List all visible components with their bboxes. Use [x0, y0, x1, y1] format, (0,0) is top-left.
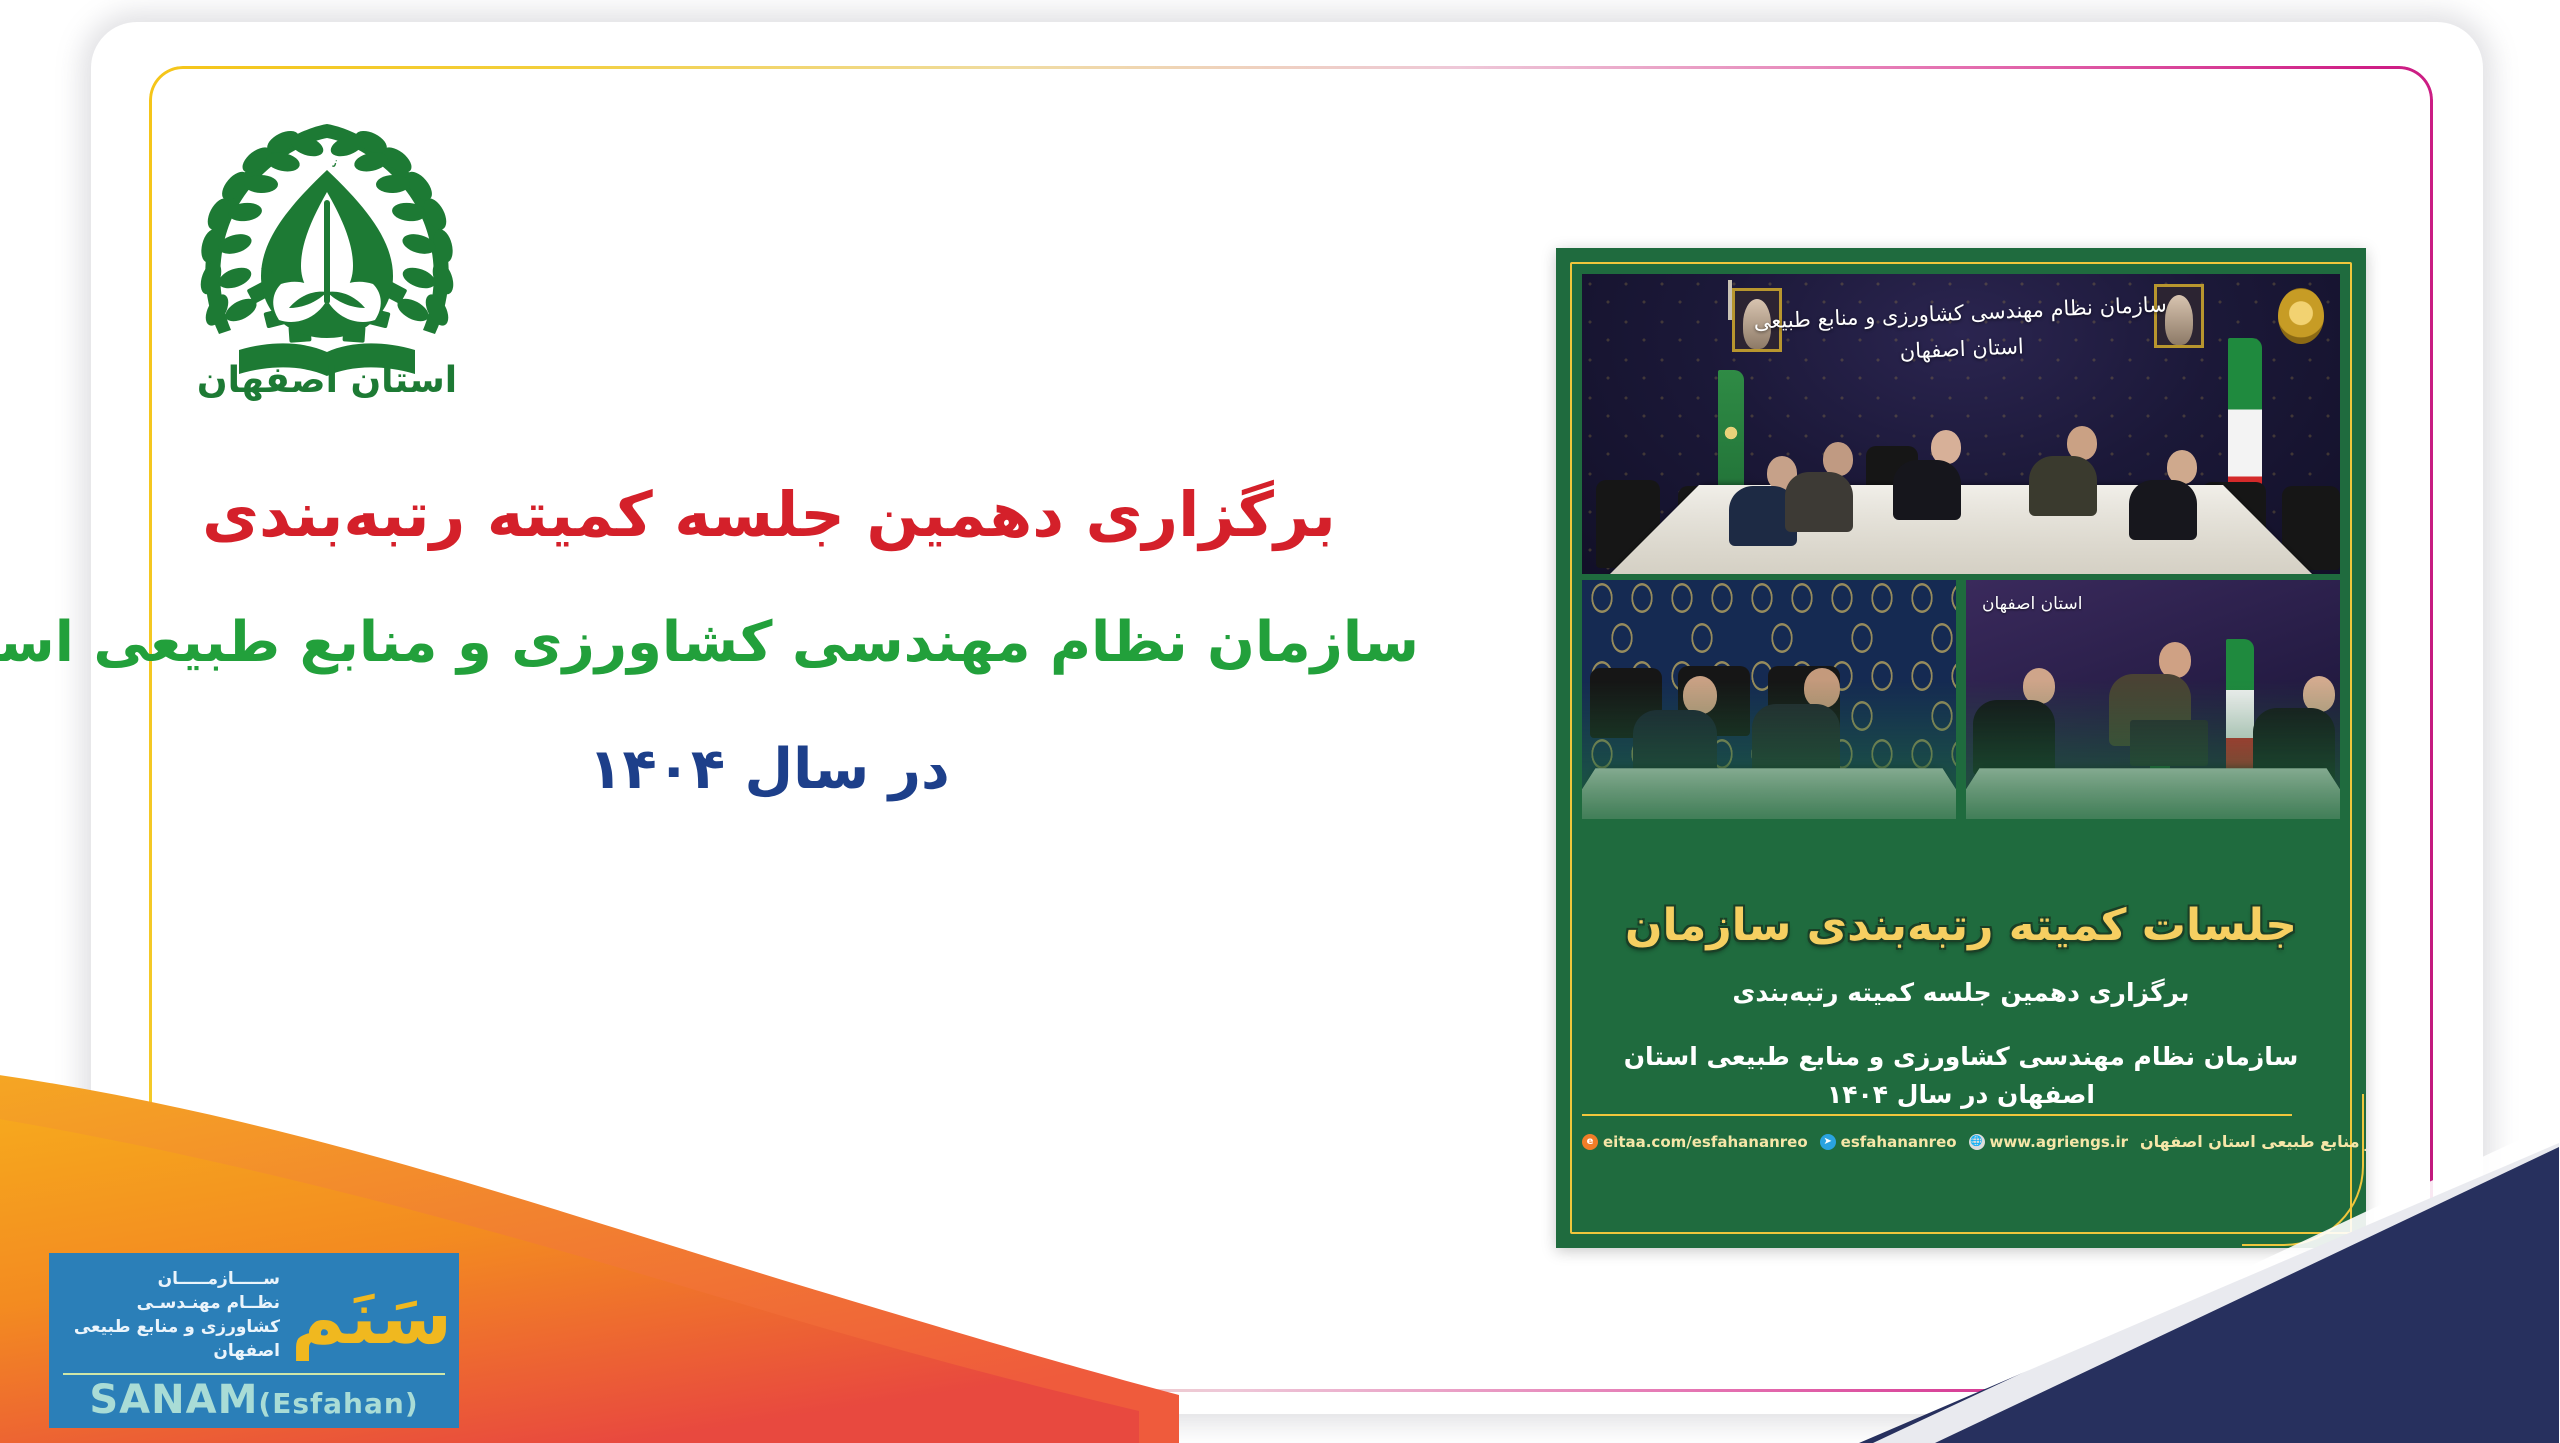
slide-canvas: کشاورزی و منابع طبیعی نظام مهندسی استان …: [0, 0, 2560, 1443]
committee-members-laptop-photo: استان اصفهان: [1967, 580, 2341, 819]
sanam-line-2: نظــام مهنـدسـی: [62, 1291, 281, 1315]
eitaa-link[interactable]: e eitaa.com/esfahananreo: [1583, 1133, 1809, 1151]
website-link[interactable]: 🌐 www.agriengs.ir: [1970, 1133, 2129, 1151]
attendee: [2149, 450, 2198, 540]
headline-line-2: سازمان نظام مهندسی کشاورزی و منابع طبیعی…: [120, 602, 1420, 683]
sanam-divider: [64, 1373, 446, 1375]
eitaa-icon: e: [1583, 1134, 1599, 1150]
sanam-persian-mark: سَنَم: [285, 1275, 460, 1355]
poster-footer: e eitaa.com/esfahananreo ➤ esfahananreo …: [1583, 1132, 2341, 1151]
website-label: www.agriengs.ir: [1991, 1133, 2129, 1151]
poster-divider: [1583, 1114, 2293, 1116]
poster-subtitle-2: سازمان نظام مهندسی کشاورزی و منابع طبیعی…: [1591, 1038, 2333, 1113]
eitaa-label: eitaa.com/esfahananreo: [1604, 1133, 1809, 1151]
sanam-persian-lines: ســـــازمـــــان نظــام مهنـدسـی کشاورزی…: [50, 1267, 285, 1364]
sanam-logo-top: سَنَم ســـــازمـــــان نظــام مهنـدسـی ک…: [50, 1259, 460, 1371]
conference-table: [1585, 485, 2339, 574]
poster-photo-grid: سازمان نظام مهندسی کشاورزی و منابع طبیعی…: [1583, 274, 2341, 819]
meeting-room-wide-photo: سازمان نظام مهندسی کشاورزی و منابع طبیعی…: [1583, 274, 2341, 574]
telegram-icon: ➤: [1821, 1134, 1837, 1150]
gold-seal-icon: [2279, 288, 2325, 344]
sanam-english-name: SANAM(Esfahan): [50, 1377, 460, 1423]
headline-line-3: در سال ۱۴۰۴: [120, 729, 1420, 810]
sanam-english-word: SANAM: [90, 1377, 259, 1423]
headline-block: برگزاری دهمین جلسه کمیته رتبه‌بندی سازما…: [120, 470, 1420, 810]
sanam-english-paren: (Esfahan): [259, 1387, 419, 1420]
attendee: [1913, 430, 1962, 520]
two-members-signing-photo: [1583, 580, 1957, 819]
attendee: [2049, 426, 2098, 516]
headline-line-1: برگزاری دهمین جلسه کمیته رتبه‌بندی: [120, 470, 1420, 560]
poster-subtitle-1: برگزاری دهمین جلسه کمیته رتبه‌بندی: [1597, 978, 2327, 1007]
sanam-logo[interactable]: سَنَم ســـــازمـــــان نظــام مهنـدسـی ک…: [50, 1253, 460, 1428]
sanam-line-1: ســـــازمـــــان: [62, 1267, 281, 1291]
emblem-caption: استان اصفهان: [178, 360, 478, 401]
sanam-line-3: کشاورزی و منابع طبیعی اصفهان: [62, 1315, 281, 1363]
globe-icon: 🌐: [1970, 1134, 1986, 1150]
footer-organization-name: سازمان نظام مهندسی کشاورزی و منابع طبیعی…: [2141, 1132, 2367, 1151]
attendee: [1805, 442, 1854, 532]
event-poster[interactable]: سازمان نظام مهندسی کشاورزی و منابع طبیعی…: [1557, 248, 2367, 1248]
poster-title: جلسات کمیته رتبه‌بندی سازمان: [1557, 900, 2367, 951]
telegram-label: esfahananreo: [1842, 1133, 1958, 1151]
telegram-link[interactable]: ➤ esfahananreo: [1821, 1133, 1958, 1151]
